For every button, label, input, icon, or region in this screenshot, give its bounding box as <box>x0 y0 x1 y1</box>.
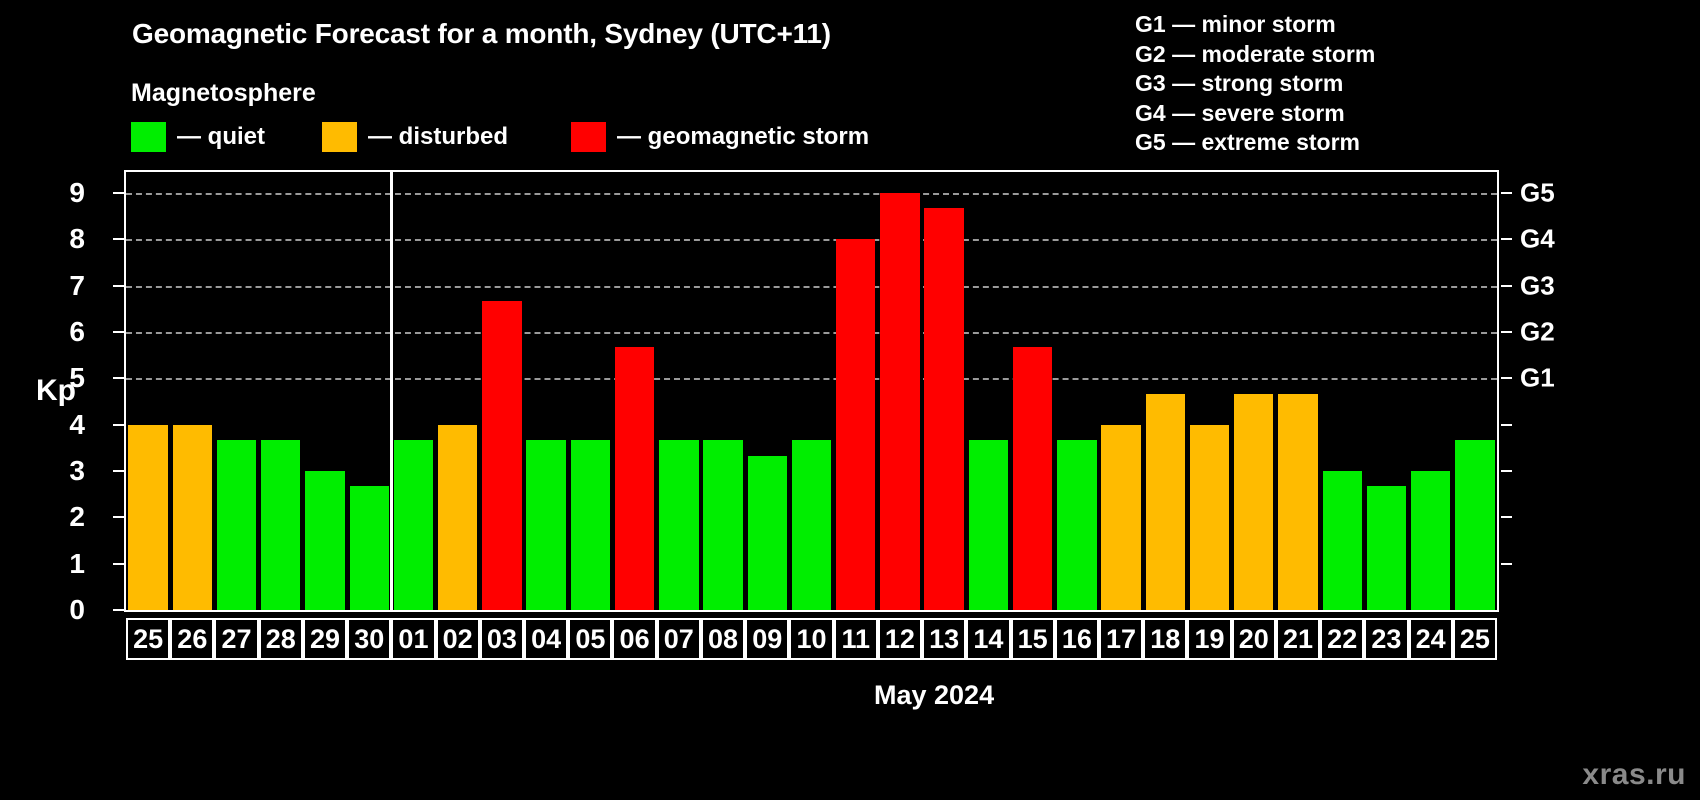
x-axis-date-box[interactable]: 05 <box>568 618 612 660</box>
y-tick-label-6: 6 <box>69 316 85 348</box>
x-axis-date-box[interactable]: 25 <box>126 618 170 660</box>
bar-28[interactable] <box>261 440 300 610</box>
y-tick-mark-8 <box>113 238 124 240</box>
bar-23[interactable] <box>1367 486 1406 610</box>
x-axis-date-label: 03 <box>487 626 517 653</box>
y-tick-label-1: 1 <box>69 548 85 580</box>
x-axis-date-box[interactable]: 03 <box>480 618 524 660</box>
y-tick-label-5: 5 <box>69 362 85 394</box>
bar-27[interactable] <box>217 440 256 610</box>
y-tick-mark-3 <box>113 470 124 472</box>
x-axis-date-label: 25 <box>133 626 163 653</box>
x-axis-date-box[interactable]: 27 <box>214 618 258 660</box>
bar-08[interactable] <box>703 440 742 610</box>
x-axis-date-box[interactable]: 11 <box>834 618 878 660</box>
x-axis-date-box[interactable]: 21 <box>1276 618 1320 660</box>
x-axis-date-box[interactable]: 09 <box>745 618 789 660</box>
bar-10[interactable] <box>792 440 831 610</box>
x-axis-date-label: 13 <box>929 626 959 653</box>
x-axis-date-box[interactable]: 23 <box>1364 618 1408 660</box>
bar-03[interactable] <box>482 301 521 610</box>
x-axis-date-box[interactable]: 28 <box>259 618 303 660</box>
storm-scale-g1: G1 — minor storm <box>1135 10 1375 40</box>
storm-scale-g5: G5 — extreme storm <box>1135 128 1375 158</box>
x-axis-date-label: 02 <box>443 626 473 653</box>
g-axis-minor-tick-1 <box>1501 563 1512 565</box>
g-axis-minor-tick-4 <box>1501 424 1512 426</box>
x-axis-date-labels: 2526272829300102030405060708091011121314… <box>124 618 1499 660</box>
g-tick-label-G1: G1 <box>1520 363 1555 394</box>
x-axis-date-box[interactable]: 29 <box>303 618 347 660</box>
legend-item-disturbed: — disturbed <box>322 122 508 152</box>
g-tick-mark-G4 <box>1501 238 1512 240</box>
chart-canvas: Geomagnetic Forecast for a month, Sydney… <box>0 0 1700 800</box>
y-tick-mark-1 <box>113 563 124 565</box>
g-tick-mark-G1 <box>1501 377 1512 379</box>
bar-18[interactable] <box>1146 394 1185 610</box>
y-tick-mark-9 <box>113 192 124 194</box>
x-axis-date-label: 11 <box>841 626 870 653</box>
y-tick-mark-5 <box>113 377 124 379</box>
y-tick-mark-6 <box>113 331 124 333</box>
x-axis-date-box[interactable]: 10 <box>789 618 833 660</box>
x-axis-title: May 2024 <box>874 680 994 711</box>
x-axis-date-label: 07 <box>664 626 694 653</box>
x-axis-date-box[interactable]: 13 <box>922 618 966 660</box>
bar-06[interactable] <box>615 347 654 610</box>
g-tick-mark-G3 <box>1501 285 1512 287</box>
legend-label-quiet: — quiet <box>177 123 265 151</box>
watermark: xras.ru <box>1582 758 1686 792</box>
x-axis-date-box[interactable]: 02 <box>436 618 480 660</box>
month-divider <box>390 172 393 610</box>
g-axis-minor-tick-3 <box>1501 470 1512 472</box>
x-axis-date-label: 27 <box>222 626 252 653</box>
bar-19[interactable] <box>1190 425 1229 610</box>
x-axis-date-label: 24 <box>1416 626 1446 653</box>
x-axis-date-box[interactable]: 17 <box>1099 618 1143 660</box>
bar-07[interactable] <box>659 440 698 610</box>
g-tick-mark-G5 <box>1501 192 1512 194</box>
legend-item-quiet: — quiet <box>131 122 265 152</box>
bar-12[interactable] <box>880 193 919 610</box>
bar-22[interactable] <box>1323 471 1362 610</box>
x-axis-date-label: 10 <box>796 626 826 653</box>
x-axis-date-box[interactable]: 26 <box>170 618 214 660</box>
x-axis-date-label: 19 <box>1194 626 1224 653</box>
bar-series <box>126 172 1497 610</box>
y-tick-label-9: 9 <box>69 177 85 209</box>
x-axis-date-label: 20 <box>1239 626 1269 653</box>
bar-04[interactable] <box>526 440 565 610</box>
x-axis-date-label: 01 <box>398 626 428 653</box>
x-axis-date-box[interactable]: 15 <box>1011 618 1055 660</box>
bar-25[interactable] <box>1455 440 1494 610</box>
x-axis-date-label: 06 <box>620 626 650 653</box>
g-tick-label-G3: G3 <box>1520 270 1555 301</box>
bar-14[interactable] <box>969 440 1008 610</box>
storm-scale-legend: G1 — minor storm G2 — moderate storm G3 … <box>1135 10 1375 158</box>
bar-20[interactable] <box>1234 394 1273 610</box>
y-tick-label-8: 8 <box>69 223 85 255</box>
x-axis-date-label: 15 <box>1018 626 1048 653</box>
legend-swatch-disturbed <box>322 122 357 152</box>
storm-scale-g4: G4 — severe storm <box>1135 99 1375 129</box>
bar-26[interactable] <box>173 425 212 610</box>
x-axis-date-box[interactable]: 06 <box>612 618 656 660</box>
x-axis-date-label: 09 <box>752 626 782 653</box>
y-tick-label-2: 2 <box>69 501 85 533</box>
x-axis-date-label: 08 <box>708 626 738 653</box>
bar-30[interactable] <box>350 486 389 610</box>
g-tick-label-G4: G4 <box>1520 224 1555 255</box>
y-tick-label-0: 0 <box>69 594 85 626</box>
y-tick-mark-7 <box>113 285 124 287</box>
legend-swatch-quiet <box>131 122 166 152</box>
legend-swatch-storm <box>571 122 606 152</box>
bar-11[interactable] <box>836 239 875 610</box>
x-axis-date-box[interactable]: 22 <box>1320 618 1364 660</box>
bar-16[interactable] <box>1057 440 1096 610</box>
x-axis-date-box[interactable]: 04 <box>524 618 568 660</box>
x-axis-date-label: 17 <box>1106 626 1136 653</box>
x-axis-date-box[interactable]: 16 <box>1055 618 1099 660</box>
bar-13[interactable] <box>924 208 963 610</box>
legend-item-storm: — geomagnetic storm <box>571 122 869 152</box>
x-axis-date-label: 26 <box>177 626 207 653</box>
legend-label-storm: — geomagnetic storm <box>617 123 869 151</box>
plot-area <box>124 170 1499 612</box>
g-axis-minor-tick-2 <box>1501 516 1512 518</box>
x-axis-date-box[interactable]: 18 <box>1143 618 1187 660</box>
x-axis-date-label: 18 <box>1150 626 1180 653</box>
magnetosphere-legend: — quiet — disturbed — geomagnetic storm <box>131 122 869 152</box>
x-axis-date-box[interactable]: 20 <box>1232 618 1276 660</box>
y-tick-mark-4 <box>113 424 124 426</box>
legend-label-disturbed: — disturbed <box>368 123 508 151</box>
x-axis-date-box[interactable]: 07 <box>657 618 701 660</box>
x-axis-date-label: 16 <box>1062 626 1092 653</box>
x-axis-date-label: 05 <box>575 626 605 653</box>
x-axis-date-label: 29 <box>310 626 340 653</box>
x-axis-date-box[interactable]: 01 <box>391 618 435 660</box>
x-axis-date-label: 23 <box>1371 626 1401 653</box>
x-axis-date-label: 25 <box>1460 626 1490 653</box>
bar-02[interactable] <box>438 425 477 610</box>
x-axis-date-box[interactable]: 30 <box>347 618 391 660</box>
x-axis-date-label: 12 <box>885 626 915 653</box>
y-tick-label-7: 7 <box>69 270 85 302</box>
g-tick-label-G5: G5 <box>1520 177 1555 208</box>
g-tick-label-G2: G2 <box>1520 316 1555 347</box>
x-axis-date-box[interactable]: 25 <box>1453 618 1497 660</box>
y-tick-mark-2 <box>113 516 124 518</box>
bar-25[interactable] <box>128 425 167 610</box>
bar-24[interactable] <box>1411 471 1450 610</box>
x-axis-date-label: 30 <box>354 626 384 653</box>
x-axis-date-box[interactable]: 14 <box>966 618 1010 660</box>
x-axis-date-label: 04 <box>531 626 561 653</box>
bar-21[interactable] <box>1278 394 1317 610</box>
plot-inner <box>126 172 1497 610</box>
x-axis-date-label: 21 <box>1283 626 1313 653</box>
page-title: Geomagnetic Forecast for a month, Sydney… <box>132 18 831 50</box>
storm-scale-g2: G2 — moderate storm <box>1135 40 1375 70</box>
bar-29[interactable] <box>305 471 344 610</box>
g-tick-mark-G2 <box>1501 331 1512 333</box>
y-tick-label-4: 4 <box>69 409 85 441</box>
bar-17[interactable] <box>1101 425 1140 610</box>
storm-scale-g3: G3 — strong storm <box>1135 69 1375 99</box>
x-axis-date-box[interactable]: 12 <box>878 618 922 660</box>
y-tick-label-3: 3 <box>69 455 85 487</box>
bar-09[interactable] <box>748 456 787 610</box>
x-axis-date-label: 22 <box>1327 626 1357 653</box>
x-axis-date-box[interactable]: 24 <box>1409 618 1453 660</box>
x-axis-date-label: 14 <box>973 626 1003 653</box>
magnetosphere-heading: Magnetosphere <box>131 79 316 108</box>
x-axis-date-box[interactable]: 08 <box>701 618 745 660</box>
x-axis-date-label: 28 <box>266 626 296 653</box>
bar-05[interactable] <box>571 440 610 610</box>
x-axis-date-box[interactable]: 19 <box>1187 618 1231 660</box>
bar-01[interactable] <box>394 440 433 610</box>
y-tick-mark-0 <box>113 609 124 611</box>
bar-15[interactable] <box>1013 347 1052 610</box>
